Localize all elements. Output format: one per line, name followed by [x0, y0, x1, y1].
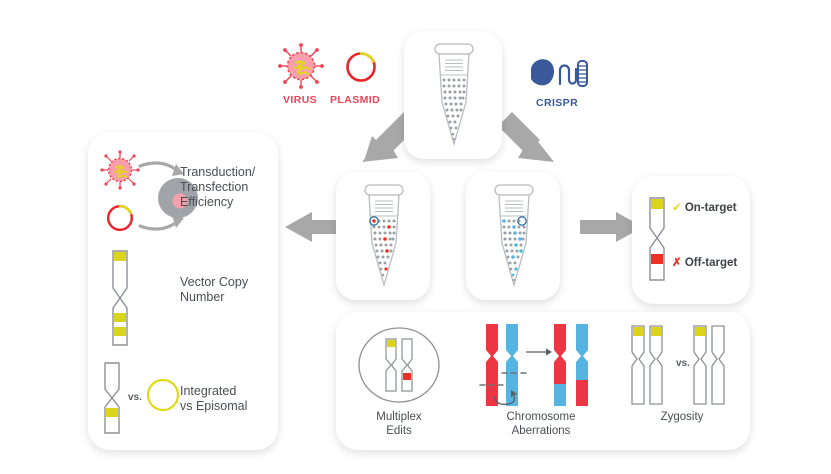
- transduction-efficiency-label: Transduction/ Transfection Efficiency: [180, 165, 275, 210]
- integrated-chromosome-icon: [102, 362, 122, 434]
- sample-tube-icon: [431, 44, 477, 148]
- zygosity-label: Zygosity: [626, 410, 738, 424]
- arrow-top-to-right: [498, 112, 554, 162]
- on-target-row: ✓ On-target: [672, 200, 737, 214]
- chromosome-aberrations-label: Chromosome Aberrations: [464, 410, 618, 438]
- virus-small-icon: [100, 150, 140, 190]
- arrow-virus-to-cell: [140, 163, 178, 171]
- virus-icon: [278, 43, 324, 89]
- chromosome-aberrations-icon: [476, 322, 606, 408]
- bottom-panel-card[interactable]: Multiplex Edits: [336, 312, 750, 450]
- transduced-cells-card[interactable]: [336, 172, 430, 300]
- crispr-label: CRISPR: [536, 97, 578, 109]
- multiplex-edits-label: Multiplex Edits: [344, 410, 454, 438]
- check-icon: ✓: [672, 202, 682, 214]
- right-panel-card[interactable]: ✓ On-target ✗ Off-target: [632, 176, 750, 304]
- edited-cells-tube-icon: [491, 185, 537, 289]
- multiplex-edits-icon: [350, 325, 448, 405]
- plasmid-icon: [344, 50, 378, 84]
- on-target-band: [651, 199, 663, 209]
- crispr-icon: [527, 54, 593, 92]
- vector-copy-number-label: Vector Copy Number: [180, 275, 275, 305]
- left-panel-card[interactable]: Transduction/ Transfection Efficiency Ve…: [88, 132, 278, 450]
- integrated-vs-comparator: vs.: [128, 392, 142, 403]
- edited-cells-card[interactable]: [466, 172, 560, 300]
- zygosity-vs-comparator: vs.: [676, 358, 690, 369]
- off-target-row: ✗ Off-target: [672, 255, 737, 269]
- plasmid-small-icon: [105, 203, 135, 233]
- off-target-band: [651, 254, 663, 264]
- cross-icon: ✗: [672, 257, 682, 269]
- diagram-canvas: VIRUS PLASMID CRISPR: [0, 0, 831, 474]
- arrow-plasmid-to-cell: [140, 221, 178, 229]
- virus-label: VIRUS: [283, 94, 317, 106]
- episomal-plasmid-icon: [145, 377, 181, 413]
- plasmid-label: PLASMID: [330, 94, 380, 106]
- off-target-label: Off-target: [685, 257, 737, 269]
- aberration-arrow: [526, 349, 552, 356]
- transduced-cells-tube-icon: [361, 185, 407, 289]
- on-off-target-chromosome-icon: [647, 197, 667, 281]
- on-target-label: On-target: [685, 202, 737, 214]
- integrated-vs-episomal-label: Integrated vs Episomal: [180, 384, 275, 414]
- vector-copy-number-chromosome-icon: [110, 250, 130, 346]
- source-tube-card[interactable]: [404, 31, 502, 159]
